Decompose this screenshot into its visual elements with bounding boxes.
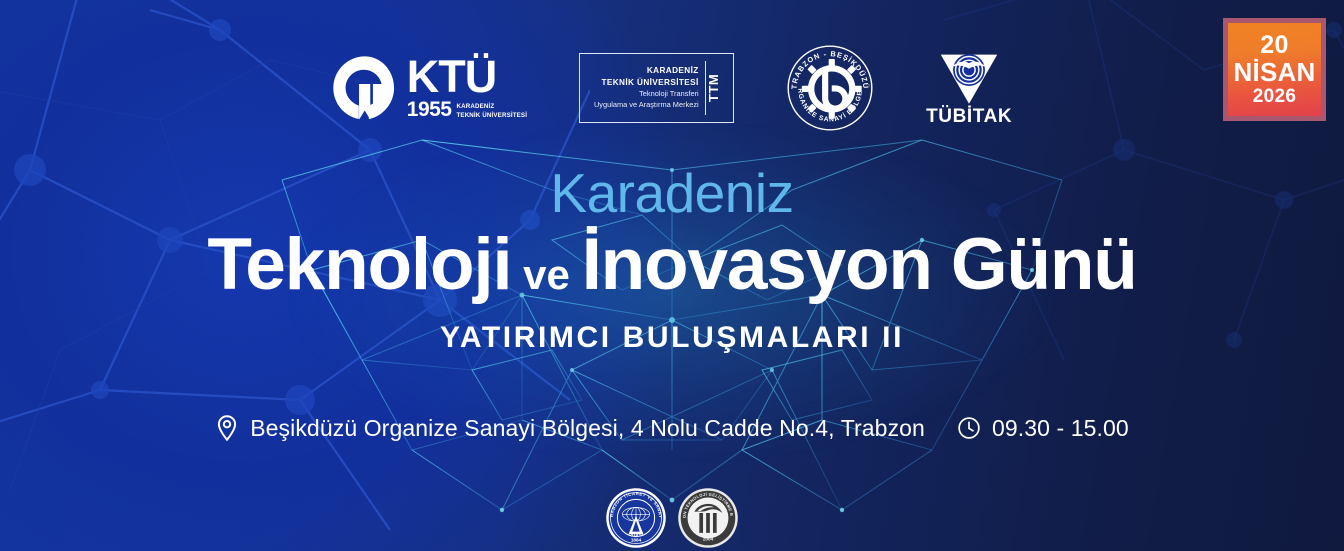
tubitak-wordmark: TÜBİTAK: [926, 107, 1012, 126]
technopark-year: 2004: [703, 536, 714, 541]
headline-block: Karadeniz Teknoloji ve İnovasyon Günü YA…: [0, 166, 1344, 355]
logo-tubitak: TÜBİTAK: [926, 51, 1012, 126]
time-text: 09.30 - 15.00: [992, 415, 1129, 442]
title-part2: İnovasyon Günü: [582, 224, 1137, 305]
chamber-year: 1884: [631, 538, 642, 543]
event-info-row: Beşikdüzü Organize Sanayi Bölgesi, 4 Nol…: [0, 414, 1344, 442]
title-conjunction: ve: [512, 251, 582, 298]
headline-title: Teknoloji ve İnovasyon Günü: [0, 226, 1344, 303]
ktu-initials: KTÜ: [407, 56, 527, 97]
ktu-founding-year: 1955: [407, 99, 452, 120]
date-day: 20: [1260, 32, 1288, 58]
ktu-name-line2: TEKNİK ÜNİVERSİTESİ: [456, 112, 527, 120]
partner-logo-row: KTÜ 1955 KARADENİZ TEKNİK ÜNİVERSİTESİ K…: [0, 44, 1344, 132]
time-info: 09.30 - 15.00: [957, 414, 1129, 442]
ktu-wordmark: KTÜ 1955 KARADENİZ TEKNİK ÜNİVERSİTESİ: [407, 56, 527, 119]
ttm-line1: KARADENİZ: [647, 65, 699, 77]
location-text: Beşikdüzü Organize Sanayi Bölgesi, 4 Nol…: [250, 415, 925, 442]
location-info: Beşikdüzü Organize Sanayi Bölgesi, 4 Nol…: [215, 414, 925, 442]
event-banner: KTÜ 1955 KARADENİZ TEKNİK ÜNİVERSİTESİ K…: [0, 0, 1344, 551]
date-month: NİSAN: [1234, 59, 1316, 86]
ttm-line4: Uygulama ve Araştırma Merkezi: [594, 100, 699, 111]
logo-ktu-ttm: KARADENİZ TEKNİK ÜNİVERSİTESİ Teknoloji …: [579, 53, 734, 123]
technopark-seal-icon: TRABZON TEKNOLOJİ GELİŞTİRME BÖLGESİ 200…: [677, 487, 739, 549]
ktu-full-name: KARADENİZ TEKNİK ÜNİVERSİTESİ: [456, 103, 527, 119]
logo-ktu: KTÜ 1955 KARADENİZ TEKNİK ÜNİVERSİTESİ: [332, 55, 527, 121]
ttm-text-block: KARADENİZ TEKNİK ÜNİVERSİTESİ Teknoloji …: [587, 59, 705, 117]
clock-icon: [957, 414, 981, 442]
ttm-line3: Teknoloji Transferi: [639, 89, 699, 100]
ktu-emblem-icon: [332, 55, 398, 121]
date-year: 2026: [1253, 87, 1296, 108]
title-part1: Teknoloji: [207, 224, 511, 305]
location-pin-icon: [215, 414, 239, 442]
ktu-name-line1: KARADENİZ: [456, 103, 527, 111]
headline-subtitle: YATIRIMCI BULUŞMALARI II: [0, 321, 1344, 355]
logo-osb: TRABZON - BEŞİKDÜZÜ ORGANİZE SANAYİ BÖLG…: [786, 44, 874, 132]
tubitak-triangle-icon: [938, 51, 1000, 105]
event-date-badge: 20 NİSAN 2026: [1223, 18, 1326, 121]
chamber-seal-icon: TRABZON TİCARET VE SANAYİ ODASI 1884: [605, 487, 667, 549]
bottom-emblem-row: TRABZON TİCARET VE SANAYİ ODASI 1884 TRA…: [0, 487, 1344, 549]
ttm-vertical-mark: TTM: [706, 59, 726, 117]
ttm-line2: TEKNİK ÜNİVERSİTESİ: [601, 77, 698, 89]
headline-kicker: Karadeniz: [0, 166, 1344, 221]
